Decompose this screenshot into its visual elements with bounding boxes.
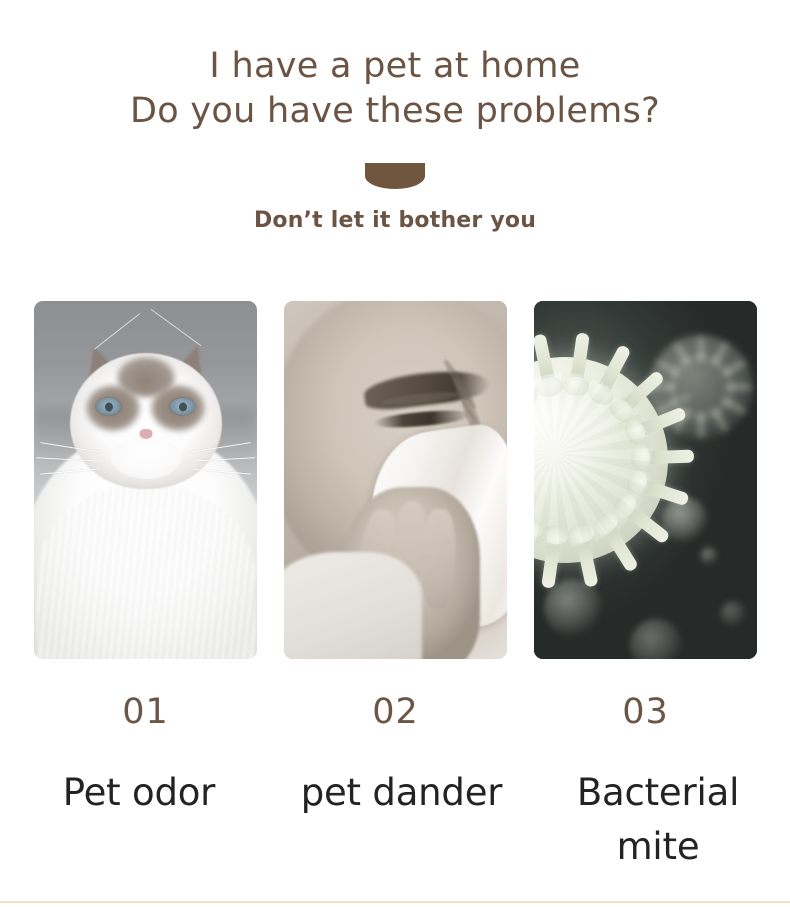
page-title: I have a pet at home Do you have these p… [0,44,790,134]
problem-card-2[interactable] [284,301,507,659]
card-number-1: 01 [34,690,257,736]
cat-photo [34,301,257,659]
virus-particle-icon [534,357,668,563]
card-caption-2: pet dander [277,766,527,820]
problem-card-row [34,301,757,659]
problem-card-3[interactable] [534,301,757,659]
card-number-3: 03 [534,690,757,736]
card-caption-row: Pet odor pet dander Bacterial mite [14,766,777,874]
card-caption-1: Pet odor [14,766,264,820]
ornament-container [0,163,790,189]
card-number-row: 01 02 03 [34,690,757,736]
promo-page: I have a pet at home Do you have these p… [0,0,790,907]
half-circle-ornament-icon [365,163,425,189]
title-line-2: Do you have these problems? [0,88,790,134]
title-line-1: I have a pet at home [0,44,790,88]
card-number-2: 02 [284,690,507,736]
virus-photo [534,301,757,659]
sneezing-person-photo [284,301,507,659]
page-subtitle: Don’t let it bother you [0,206,790,236]
card-caption-3: Bacterial mite [539,766,777,874]
problem-card-1[interactable] [34,301,257,659]
bottom-divider [0,901,790,903]
